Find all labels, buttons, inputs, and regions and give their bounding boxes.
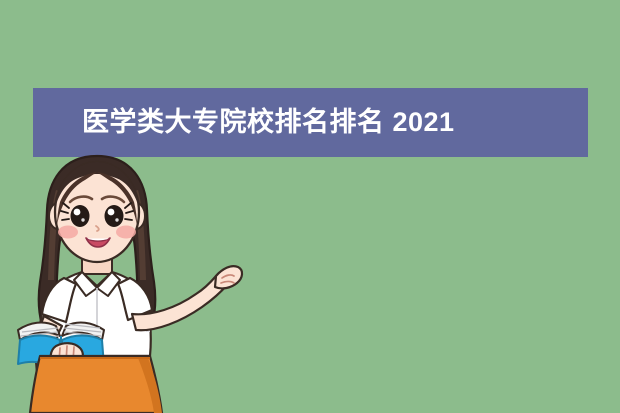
hand-presenting [215,266,242,288]
banner-image-canvas: 医学类大专院校排名排名 2021 [0,0,620,413]
student-illustration [0,150,310,413]
blush-left [58,226,78,239]
blush-right [116,226,136,239]
page-title: 医学类大专院校排名排名 2021 [82,88,582,157]
